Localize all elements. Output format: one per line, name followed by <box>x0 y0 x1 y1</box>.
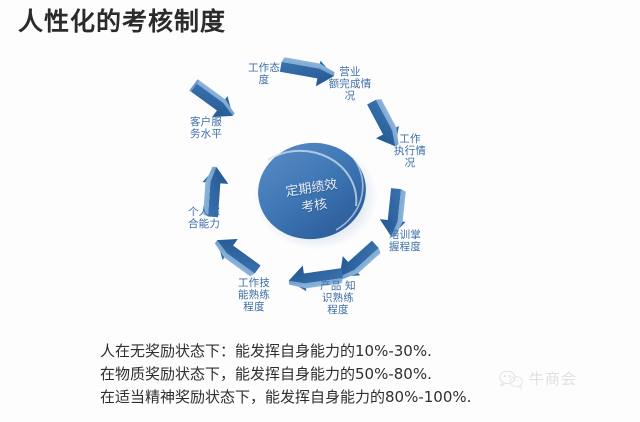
cycle-label-personal-ability: 个人综 合能力 <box>178 206 230 230</box>
cycle-label-work-attitude: 工作态 度 <box>238 62 290 86</box>
cycle-label-customer-service: 客户服 务水平 <box>180 116 232 140</box>
page-title: 人性化的考核制度 <box>18 8 226 37</box>
note-line-1: 人在无奖励状态下：能发挥自身能力的10%-30%. <box>100 340 570 363</box>
cycle-arrow-7 <box>210 230 266 280</box>
note-line-3: 在适当精神奖励状态下，能发挥自身能力的80%-100%. <box>100 386 570 409</box>
cycle-label-skill-proficiency: 工作技 能熟练 程度 <box>229 277 279 313</box>
cycle-label-work-execution: 工作 执行情 况 <box>385 133 435 169</box>
cycle-label-training-mastery: 培训掌 握程度 <box>378 229 432 253</box>
notes-block: 人在无奖励状态下：能发挥自身能力的10%-30%. 在物质奖励状态下，能发挥自身… <box>100 340 570 408</box>
cycle-label-product-knowledge: 产品 知 识熟练 程度 <box>311 280 365 316</box>
cycle-svg <box>140 48 480 338</box>
performance-cycle-diagram <box>140 48 480 338</box>
note-line-2: 在物质奖励状态下，能发挥自身能力的50%-80%. <box>100 363 570 386</box>
cycle-label-sales-completion: 营业 额完成情 况 <box>322 66 378 102</box>
slide-canvas: 人性化的考核制度 <box>0 0 640 422</box>
